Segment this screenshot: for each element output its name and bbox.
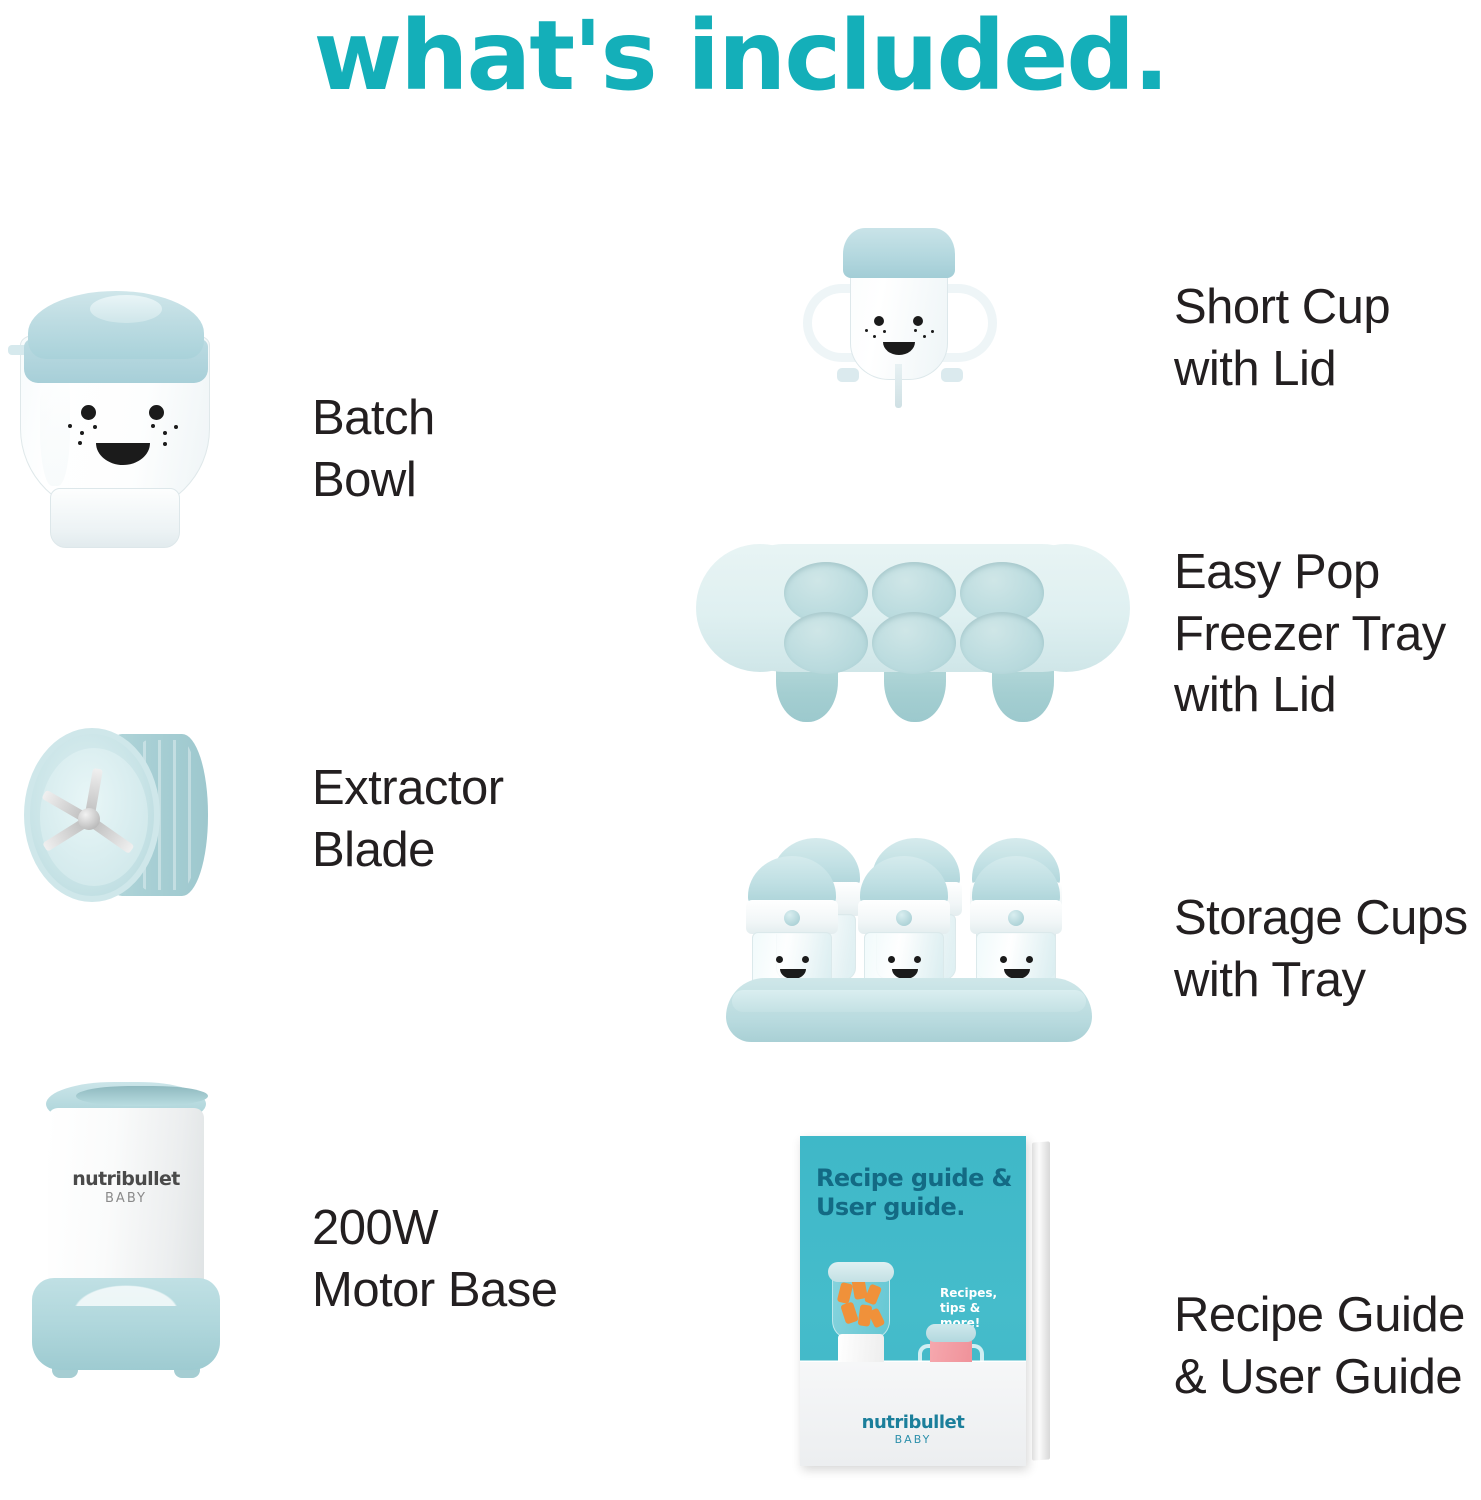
carrot-piece [837, 1282, 853, 1304]
recipe-guide-brand-sub: BABY [800, 1433, 1026, 1446]
freckle-icon [931, 330, 934, 333]
freckle-icon [151, 424, 155, 428]
short-cup-foot-right [941, 368, 963, 382]
freckle-icon [78, 441, 82, 445]
carrot-piece [868, 1307, 886, 1328]
recipe-guide-cover: Recipe guide & User guide. Recipes, tips… [800, 1136, 1026, 1466]
eye-right-icon [913, 316, 923, 326]
freckle-icon [865, 329, 868, 332]
eye-right-icon [802, 956, 809, 963]
recipe-guide-cover-title: Recipe guide & User guide. [816, 1164, 1016, 1222]
eye-right-icon [914, 956, 921, 963]
motor-base-icon: nutribullet BABY [30, 1082, 222, 1382]
freckle-icon [68, 424, 72, 428]
freezer-tray-well [960, 612, 1044, 674]
storage-cup-indicator [896, 910, 912, 926]
short-cup-lid [843, 228, 955, 278]
motor-base-brand-name: nutribullet [72, 1168, 180, 1190]
recipe-guide-pages [1032, 1141, 1050, 1460]
freezer-tray-well [784, 612, 868, 674]
freckle-icon [923, 335, 926, 338]
blender-lid [828, 1262, 894, 1282]
batch-bowl-icon [8, 283, 223, 555]
freckle-icon [163, 431, 167, 435]
motor-base-brand: nutribullet BABY [48, 1168, 204, 1206]
eye-left-icon [776, 956, 783, 963]
motor-base-wave [48, 1272, 204, 1306]
storage-cup-indicator [784, 910, 800, 926]
eye-left-icon [1000, 956, 1007, 963]
short-cup-foot-left [837, 368, 859, 382]
eye-left-icon [81, 405, 96, 420]
batch-bowl-lid [28, 291, 204, 359]
freckle-icon [883, 330, 886, 333]
eye-right-icon [149, 405, 164, 420]
storage-cup-indicator [1008, 910, 1024, 926]
label-short-cup: Short Cup with Lid [1174, 277, 1390, 400]
eye-left-icon [888, 956, 895, 963]
label-extractor-blade: Extractor Blade [312, 758, 504, 881]
recipe-guide-icon: Recipe guide & User guide. Recipes, tips… [800, 1136, 1040, 1472]
page-title: what's included. [0, 4, 1481, 110]
label-recipe-guide: Recipe Guide & User Guide [1174, 1285, 1465, 1408]
freckle-icon [163, 442, 167, 446]
motor-base-rim-inner [76, 1086, 208, 1106]
eye-left-icon [874, 316, 884, 326]
motor-base-brand-sub: BABY [48, 1191, 204, 1206]
label-freezer-tray: Easy Pop Freezer Tray with Lid [1174, 542, 1446, 727]
freckle-icon [93, 425, 97, 429]
freckle-icon [873, 335, 876, 338]
label-motor-base: 200W Motor Base [312, 1198, 558, 1321]
freezer-tray-well [872, 612, 956, 674]
eye-right-icon [1026, 956, 1033, 963]
blade-hub [78, 808, 100, 830]
freckle-icon [174, 425, 178, 429]
storage-cups-icon [718, 838, 1100, 1048]
whats-included-infographic: what's included. Batch Bowl [0, 0, 1481, 1500]
label-storage-cups: Storage Cups with Tray [1174, 888, 1468, 1011]
batch-bowl-lid-knob [90, 295, 162, 323]
short-cup-spout [895, 364, 902, 408]
carrot-piece [864, 1283, 882, 1305]
carrot-piece [840, 1301, 859, 1324]
storage-cups-tray-lip [732, 990, 1086, 1012]
pink-cup-lid [926, 1324, 976, 1342]
short-cup-icon [795, 228, 1005, 408]
extractor-blade-blades [42, 762, 134, 870]
recipe-guide-brand: nutribullet BABY [800, 1412, 1026, 1446]
label-batch-bowl: Batch Bowl [312, 388, 435, 511]
freckle-icon [914, 329, 917, 332]
batch-bowl-base [50, 488, 180, 548]
extractor-blade-icon [18, 726, 214, 906]
recipe-guide-brand-name: nutribullet [862, 1412, 965, 1433]
freckle-icon [80, 431, 84, 435]
freezer-tray-icon [722, 534, 1104, 726]
short-cup-handle-right [941, 284, 997, 362]
